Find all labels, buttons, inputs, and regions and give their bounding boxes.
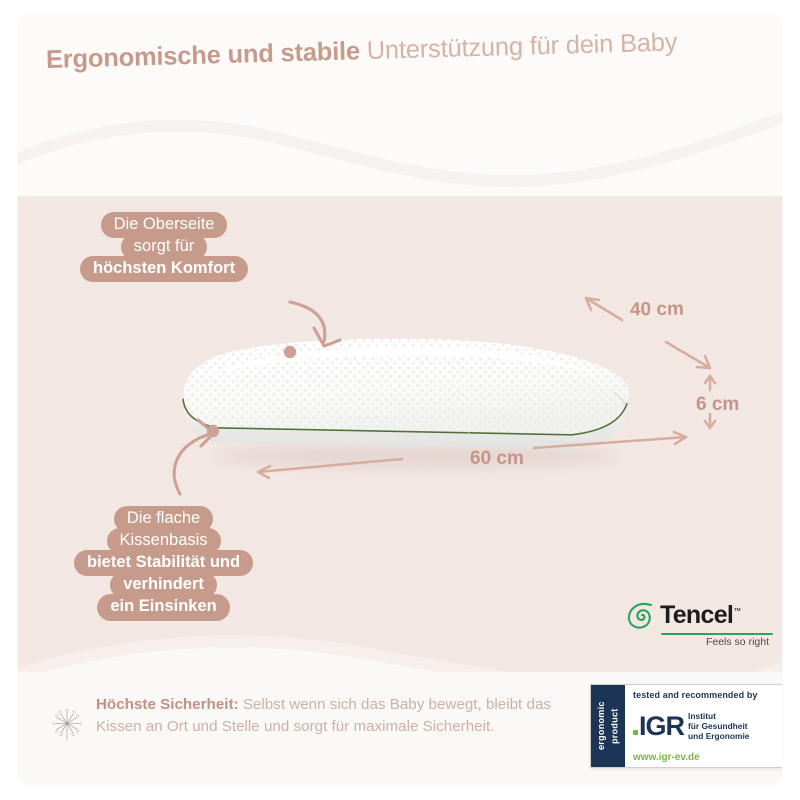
igr-tested-by: tested and recommended by	[633, 690, 777, 700]
tencel-wordmark: Tencel™	[660, 601, 740, 630]
tencel-underline	[661, 633, 773, 635]
igr-strip-text: ergonomic product	[595, 685, 622, 767]
tencel-logo: Tencel™ Feels so right	[625, 599, 773, 648]
igr-mark: IGR	[633, 714, 684, 738]
igr-mark-row: IGR Institut für Gesundheit und Ergonomi…	[633, 711, 777, 742]
callout-oberseite-komfort: Die Oberseite sorgt für höchsten Komfort	[80, 214, 248, 280]
dimension-label-height: 6 cm	[696, 394, 739, 416]
callout-line: Die Oberseite	[101, 212, 228, 238]
igr-green-dot	[633, 730, 638, 735]
callout-line: bietet Stabilität und	[74, 550, 253, 576]
igr-institute-line: Institut	[688, 711, 749, 721]
tencel-spiral-icon	[625, 599, 657, 631]
callout-line: ein Einsinken	[97, 594, 229, 620]
wave-divider-top	[18, 112, 782, 222]
callout-line: verhindert	[110, 572, 217, 598]
callout-kissenbasis-stabilitaet: Die flache Kissenbasis bietet Stabilität…	[74, 508, 253, 619]
safety-note-text: Höchste Sicherheit: Selbst wenn sich das…	[96, 694, 572, 737]
tencel-trademark: ™	[733, 606, 740, 615]
tencel-tagline: Feels so right	[625, 636, 773, 648]
callout-line: höchsten Komfort	[80, 256, 248, 282]
dimension-label-width: 60 cm	[470, 448, 524, 470]
callout-line: sorgt für	[121, 234, 208, 260]
igr-url: www.igr-ev.de	[633, 752, 777, 763]
callout-line: Kissenbasis	[107, 528, 221, 554]
pillow-product-image	[168, 334, 638, 474]
tencel-word-text: Tencel	[660, 601, 733, 629]
igr-institute-line: für Gesundheit	[688, 721, 749, 731]
dimension-label-depth: 40 cm	[630, 299, 684, 322]
callout-line: Die flache	[114, 506, 213, 532]
igr-body: tested and recommended by IGR Institut f…	[625, 685, 782, 767]
safety-note-lead: Höchste Sicherheit:	[96, 696, 239, 713]
igr-certification-badge: ergonomic product tested and recommended…	[590, 684, 782, 768]
igr-mark-text: IGR	[639, 711, 684, 741]
product-infographic-card: Ergonomische und stabile Unterstützung f…	[18, 16, 782, 784]
igr-strip: ergonomic product	[591, 685, 625, 767]
safety-note: Höchste Sicherheit: Selbst wenn sich das…	[52, 694, 572, 756]
dandelion-icon	[52, 694, 82, 756]
igr-institute-line: und Ergonomie	[688, 731, 749, 741]
igr-institute-name: Institut für Gesundheit und Ergonomie	[688, 711, 749, 742]
